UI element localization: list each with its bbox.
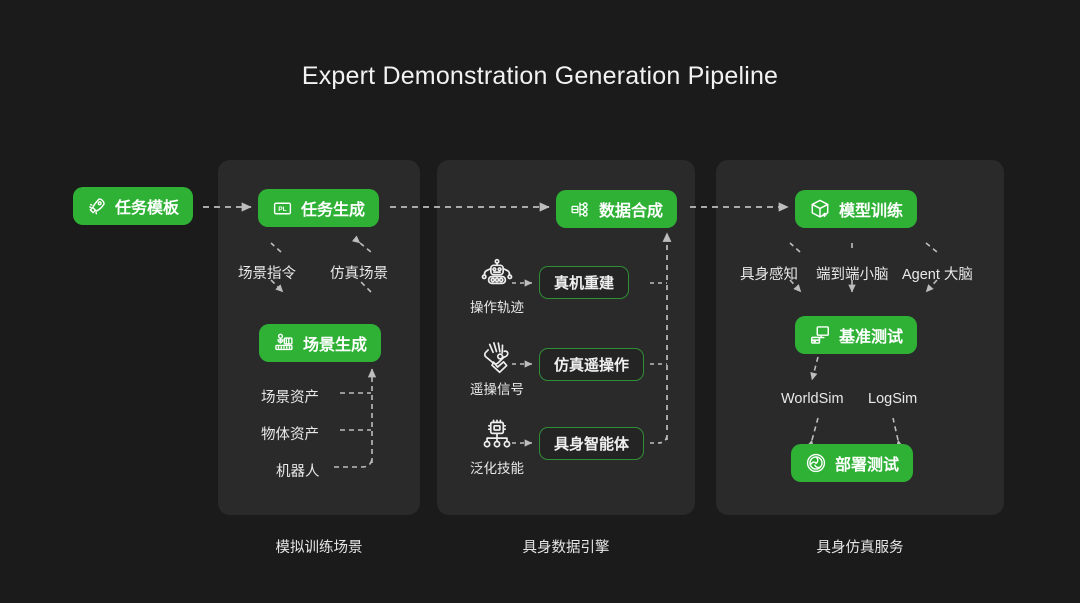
label-end-to-end-cerebellum: 端到端小脑 — [816, 263, 889, 284]
robot-icon — [477, 258, 517, 292]
source-caption: 操作轨迹 — [464, 296, 530, 316]
node-label: 仿真遥操作 — [554, 354, 629, 375]
source-caption: 遥操信号 — [464, 378, 530, 398]
label-logsim: LogSim — [868, 391, 917, 407]
node-benchmark-test[interactable]: 基准测试 — [795, 316, 917, 354]
node-simulated-teleoperation[interactable]: 仿真遥操作 — [539, 348, 644, 381]
diagram-canvas: Expert Demonstration Generation Pipeline — [0, 0, 1080, 603]
node-label: 数据合成 — [599, 197, 663, 221]
source-generalized-skill: 泛化技能 — [464, 419, 530, 477]
label-agent-brain: Agent 大脑 — [902, 263, 973, 284]
node-real-machine-reconstruction[interactable]: 真机重建 — [539, 266, 629, 299]
source-caption: 泛化技能 — [464, 457, 530, 477]
node-label: 具身智能体 — [554, 433, 629, 454]
glove-icon — [477, 340, 517, 374]
svg-text:PL: PL — [278, 206, 287, 213]
node-label: 部署测试 — [835, 451, 899, 475]
panel-caption-1: 模拟训练场景 — [218, 536, 420, 557]
node-label: 真机重建 — [554, 272, 614, 293]
globe-swirl-icon — [805, 452, 827, 474]
node-label: 基准测试 — [839, 323, 903, 347]
node-model-training[interactable]: 模型训练 — [795, 190, 917, 228]
page-title: Expert Demonstration Generation Pipeline — [0, 62, 1080, 91]
source-operation-trajectory: 操作轨迹 — [464, 258, 530, 316]
node-task-generation[interactable]: PL 任务生成 — [258, 189, 379, 227]
label-robot: 机器人 — [276, 460, 320, 481]
node-embodied-agent[interactable]: 具身智能体 — [539, 427, 644, 460]
node-label: 任务模板 — [115, 194, 179, 218]
panel-caption-3: 具身仿真服务 — [716, 536, 1004, 557]
panel-caption-2: 具身数据引擎 — [437, 536, 695, 557]
node-label: 模型训练 — [839, 197, 903, 221]
label-scene-asset: 场景资产 — [261, 386, 319, 407]
node-label: 场景生成 — [303, 331, 367, 355]
monitor-test-icon — [809, 324, 831, 346]
pl-frame-icon: PL — [272, 198, 293, 219]
node-data-synthesis[interactable]: 数据合成 — [556, 190, 677, 228]
cube-arrow-icon — [809, 198, 831, 220]
node-deployment-test[interactable]: 部署测试 — [791, 444, 913, 482]
label-simulated-scene: 仿真场景 — [330, 262, 388, 283]
label-embodied-perception: 具身感知 — [740, 263, 798, 284]
source-teleoperation-signal: 遥操信号 — [464, 340, 530, 398]
data-flow-icon — [570, 199, 591, 220]
scene-robot-icon — [273, 332, 295, 354]
node-task-template[interactable]: 任务模板 — [73, 187, 193, 225]
label-object-asset: 物体资产 — [261, 423, 319, 444]
label-scene-command: 场景指令 — [238, 262, 296, 283]
label-worldsim: WorldSim — [781, 391, 844, 407]
chip-network-icon — [477, 419, 517, 453]
node-scene-generation[interactable]: 场景生成 — [259, 324, 381, 362]
rocket-icon — [87, 196, 107, 216]
node-label: 任务生成 — [301, 196, 365, 220]
